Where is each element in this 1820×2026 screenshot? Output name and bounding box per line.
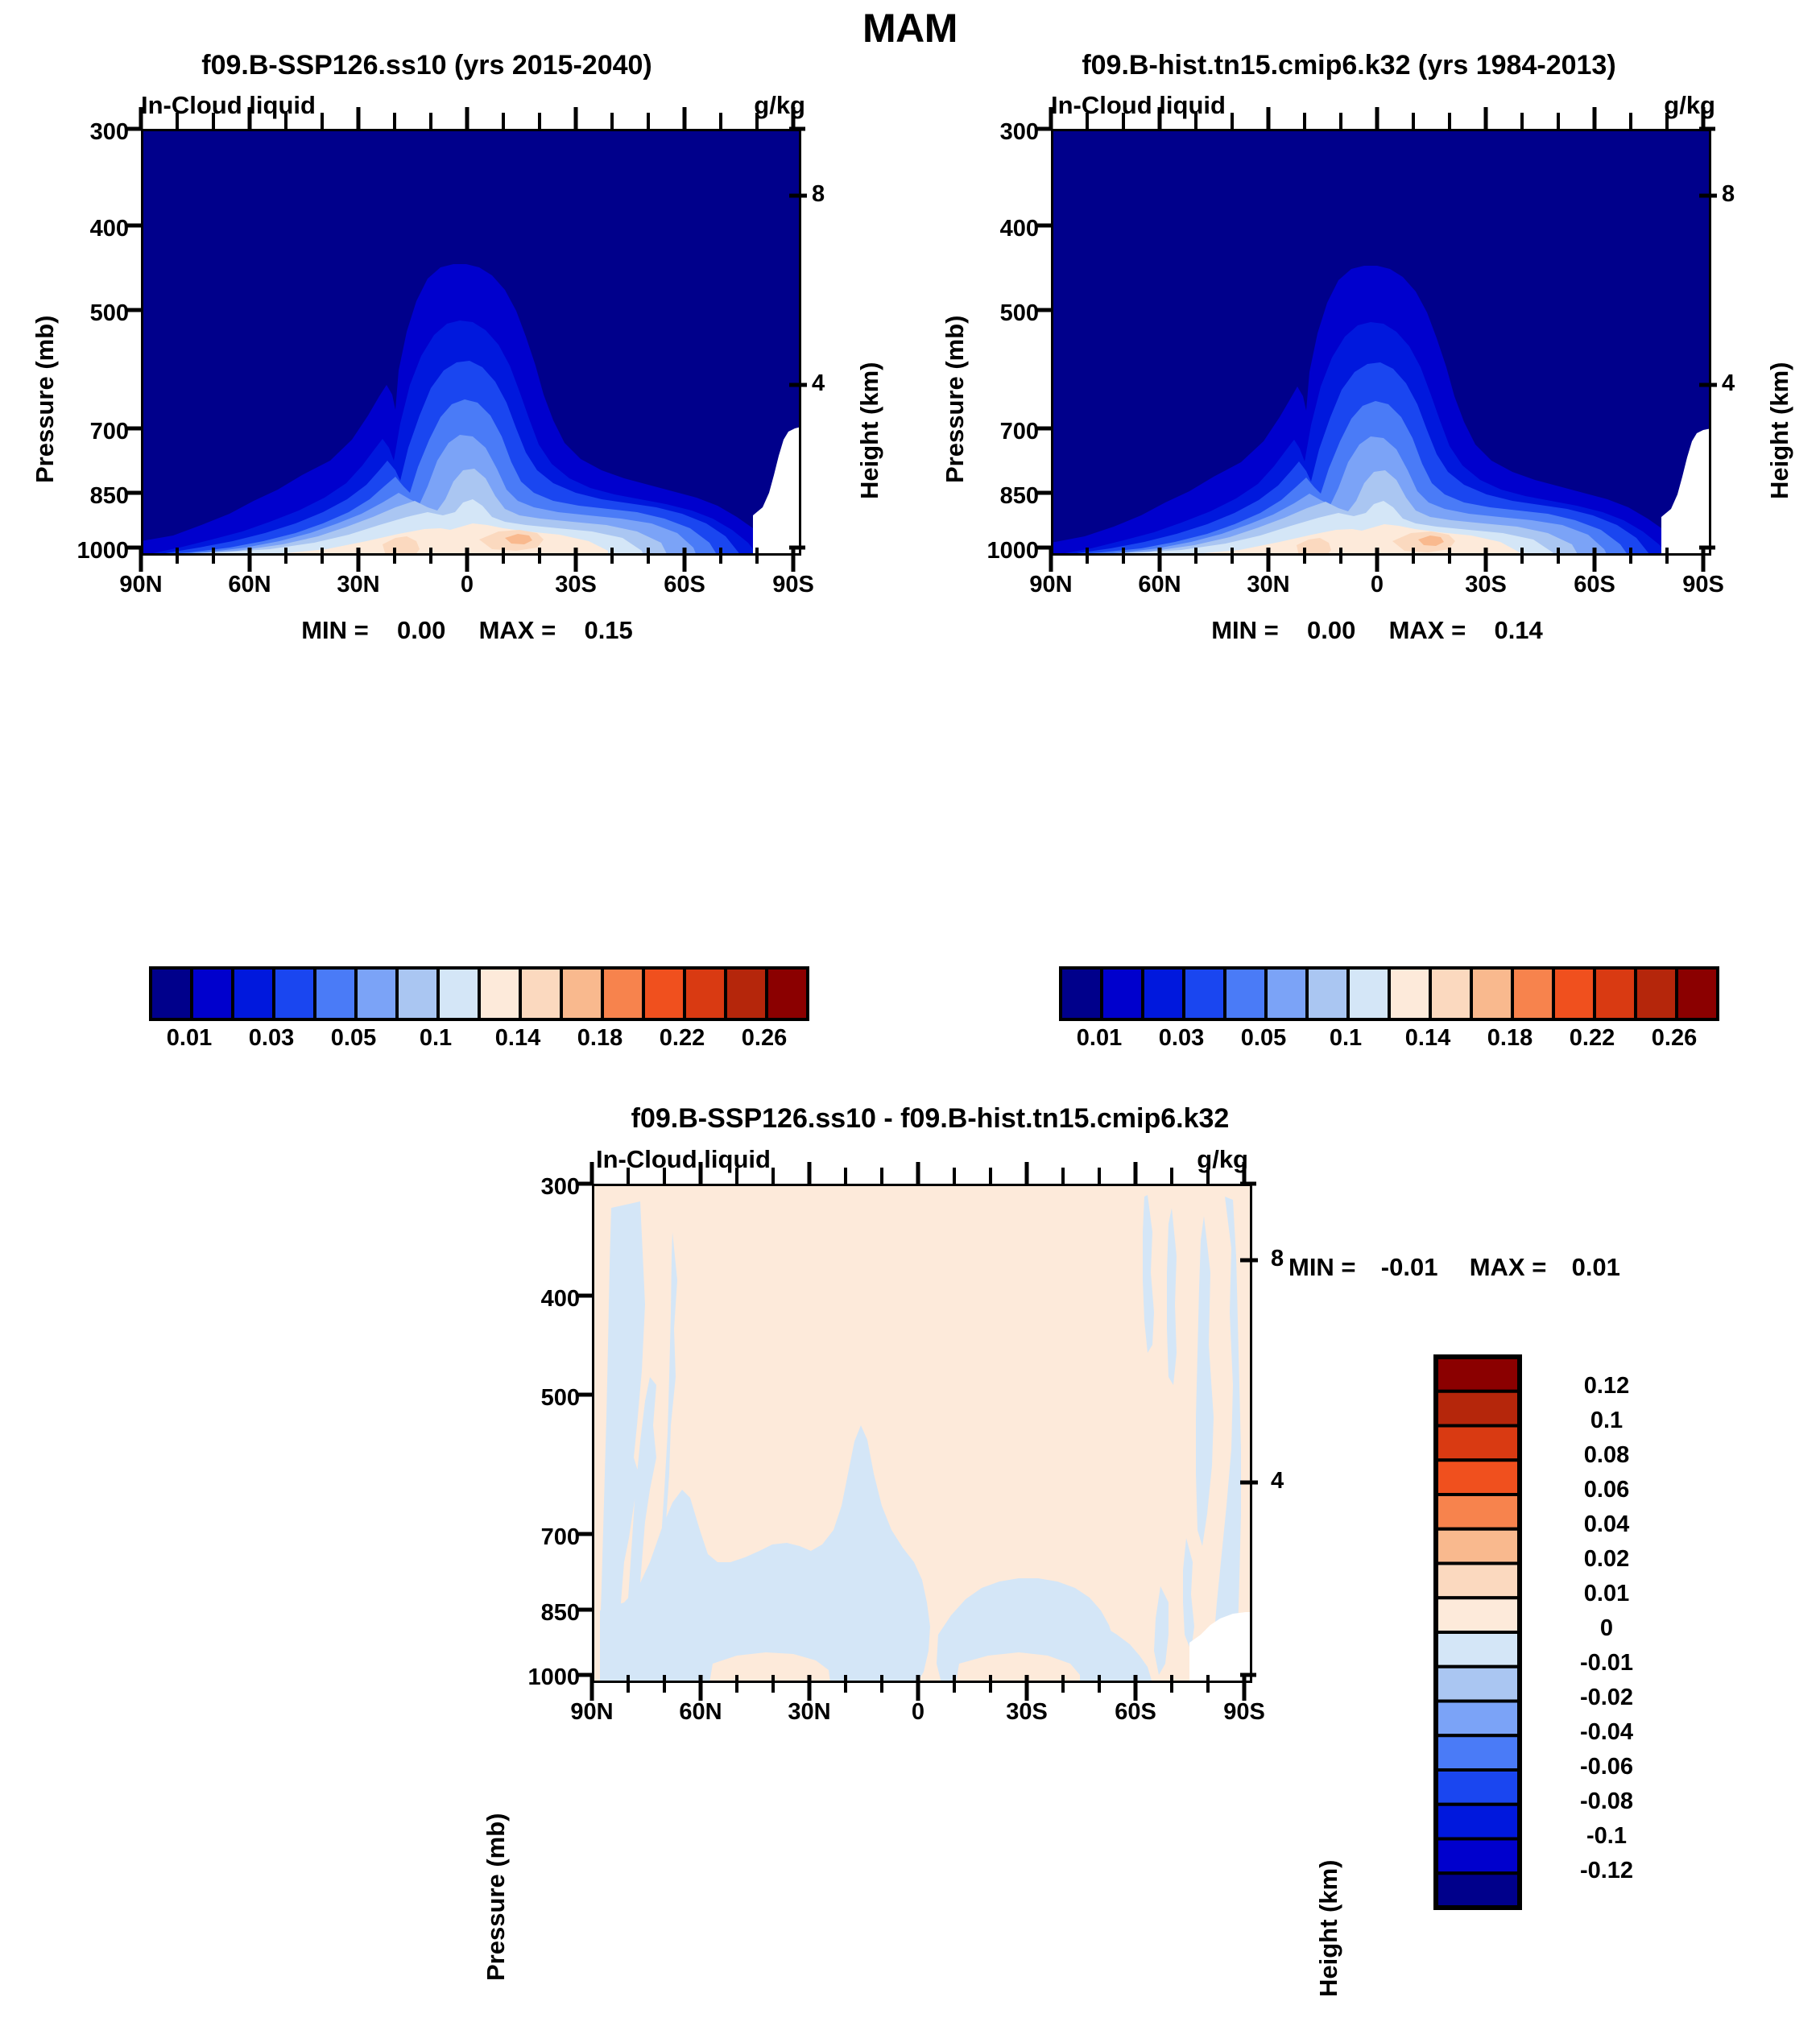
xtick-90S-bottom: 90S [1204,1699,1284,1726]
vcblabel-10: -0.04 [1530,1719,1683,1746]
colorbar-cell [1436,1529,1520,1564]
vcblabel-9: -0.02 [1530,1685,1683,1711]
vcblabel-7: 0 [1530,1615,1683,1642]
vcblabel-4: 0.04 [1530,1511,1683,1538]
colorbar-cell [1512,968,1553,1019]
vcblabel-1: 0.1 [1530,1408,1683,1434]
xtick-60S-bottom: 60S [1095,1699,1176,1726]
colorbar-cell [1061,968,1102,1019]
min-value-top-left: 0.00 [397,616,445,644]
min-value-bottom: -0.01 [1381,1253,1438,1281]
vcblabel-6: 0.01 [1530,1581,1683,1607]
colorbar-swatches-top-left [149,966,809,1021]
max-value-bottom: 0.01 [1572,1253,1620,1281]
xtick-0-top-right: 0 [1337,572,1417,598]
colorbar-cell [1436,1839,1520,1874]
colorbar-cell [192,968,233,1019]
colorbar-cell [274,968,315,1019]
vcblabel-14: -0.12 [1530,1858,1683,1884]
colorbar-cell [1471,968,1512,1019]
colorbar-cell [1436,1564,1520,1598]
colorbar-cell [1553,968,1595,1019]
colorbar-cell [1436,1667,1520,1701]
xtick-30S-bottom: 30S [987,1699,1067,1726]
colorbar-cell [1430,968,1471,1019]
colorbar-top-left[interactable] [149,966,809,1021]
colorbar-cell [233,968,274,1019]
xtick-30S-top-left: 30S [536,572,616,598]
vcblabel-2: 0.08 [1530,1442,1683,1469]
vcblabel-5: 0.02 [1530,1546,1683,1573]
panel-title-bottom: f09.B-SSP126.ss10 - f09.B-hist.tn15.cmip… [507,1103,1353,1135]
colorbar-cell [1389,968,1430,1019]
min-label-bottom: MIN = [1288,1253,1356,1281]
colorbar-cell [1436,1495,1520,1529]
panel-bottom-diff: f09.B-SSP126.ss10 - f09.B-hist.tn15.cmip… [0,1103,1820,1945]
min-value-top-right: 0.00 [1307,616,1355,644]
y2axis-title-top-right: Height (km) [1765,499,1820,528]
colorbar-cell [1436,1460,1520,1495]
xtick-60S-top-left: 60S [644,572,725,598]
ytick-1000-top-left: 1000 [16,538,129,564]
colorbar-cell [602,968,643,1019]
cblabel-7-tl: 0.26 [682,1025,846,1052]
xtick-60N-top-left: 60N [209,572,290,598]
panel-title-top-left: f09.B-SSP126.ss10 (yrs 2015-2040) [0,50,854,81]
colorbar-cell [356,968,397,1019]
figure-title: MAM [0,5,1820,52]
colorbar-labels-top-left: 0.01 0.03 0.05 0.1 0.14 0.18 0.22 0.26 [149,1025,809,1061]
axes-ticks-top-left [113,105,854,588]
colorbar-cell [1184,968,1225,1019]
panel-top-left: f09.B-SSP126.ss10 (yrs 2015-2040) In-Clo… [0,48,910,1127]
axes-ticks-bottom [564,1160,1305,1715]
colorbar-cell [1677,968,1718,1019]
panel-top-right: f09.B-hist.tn15.cmip6.k32 (yrs 1984-2013… [910,48,1820,1127]
min-label-top-right: MIN = [1211,616,1279,644]
xtick-0-bottom: 0 [878,1699,958,1726]
colorbar-cell [397,968,438,1019]
ytick-1000-top-right: 1000 [926,538,1039,564]
colorbar-cell [1436,1426,1520,1461]
vcblabel-13: -0.1 [1530,1823,1683,1850]
xtick-30S-top-right: 30S [1446,572,1526,598]
colorbar-cell [438,968,479,1019]
xtick-90N-top-right: 90N [1011,572,1091,598]
colorbar-top-right[interactable] [1059,966,1719,1021]
colorbar-cell [1436,1632,1520,1667]
colorbar-cell [726,968,767,1019]
vcblabel-12: -0.08 [1530,1788,1683,1815]
colorbar-cell [1636,968,1677,1019]
colorbar-cell [1266,968,1307,1019]
colorbar-cell [685,968,726,1019]
colorbar-cell [1225,968,1266,1019]
xtick-30N-top-left: 30N [318,572,399,598]
colorbar-cell [315,968,356,1019]
colorbar-cell [1102,968,1143,1019]
xtick-90N-top-left: 90N [101,572,181,598]
max-label-top-left: MAX = [479,616,556,644]
colorbar-cell [643,968,685,1019]
cblabel-7-tr: 0.26 [1592,1025,1756,1052]
vcblabel-3: 0.06 [1530,1477,1683,1503]
min-label-top-left: MIN = [301,616,369,644]
colorbar-cell [767,968,808,1019]
minmax-line-top-right: MIN = 0.00 MAX = 0.14 [1095,616,1659,645]
vcblabel-11: -0.06 [1530,1754,1683,1780]
colorbar-cell [479,968,520,1019]
colorbar-cell [151,968,192,1019]
xtick-60S-top-right: 60S [1554,572,1635,598]
xtick-90S-top-right: 90S [1663,572,1743,598]
xtick-30N-top-right: 30N [1228,572,1309,598]
colorbar-cell [1348,968,1389,1019]
vcblabel-0: 0.12 [1530,1373,1683,1400]
max-label-top-right: MAX = [1389,616,1466,644]
vcblabel-8: -0.01 [1530,1650,1683,1677]
ytick-1000-bottom: 1000 [467,1664,580,1691]
xtick-60N-bottom: 60N [660,1699,741,1726]
colorbar-cell [1436,1357,1520,1391]
yaxis-title-bottom: Pressure (mb) [482,1981,649,2010]
colorbar-cell [1436,1805,1520,1839]
colorbar-labels-top-right: 0.01 0.03 0.05 0.1 0.14 0.18 0.22 0.26 [1059,1025,1719,1061]
xtick-90S-top-left: 90S [753,572,833,598]
colorbar-cell [1595,968,1636,1019]
colorbar-cell [561,968,602,1019]
minmax-line-top-left: MIN = 0.00 MAX = 0.15 [185,616,749,645]
colorbar-cell [520,968,561,1019]
xtick-30N-bottom: 30N [769,1699,850,1726]
colorbar-cell [1436,1598,1520,1632]
colorbar-labels-bottom: 0.12 0.1 0.08 0.06 0.04 0.02 0.01 0 -0.0… [1530,1354,1772,1910]
colorbar-bottom[interactable] [1433,1354,1522,1910]
colorbar-cell [1307,968,1348,1019]
xtick-90N-bottom: 90N [552,1699,632,1726]
colorbar-cell [1436,1391,1520,1426]
colorbar-cell [1436,1735,1520,1770]
axes-ticks-top-right [1023,105,1764,588]
max-value-top-right: 0.14 [1494,616,1542,644]
minmax-line-bottom: MIN = -0.01 MAX = 0.01 [1288,1253,1739,1282]
xtick-0-top-left: 0 [427,572,507,598]
colorbar-cell [1143,968,1184,1019]
y2axis-title-bottom: Height (km) [1314,1997,1452,2026]
panel-title-top-right: f09.B-hist.tn15.cmip6.k32 (yrs 1984-2013… [910,50,1788,81]
colorbar-cell [1436,1701,1520,1736]
max-label-bottom: MAX = [1470,1253,1547,1281]
max-value-top-left: 0.15 [584,616,632,644]
colorbar-swatches-bottom [1433,1354,1522,1910]
colorbar-cell [1436,1873,1520,1908]
xtick-60N-top-right: 60N [1119,572,1200,598]
colorbar-cell [1436,1770,1520,1805]
colorbar-swatches-top-right [1059,966,1719,1021]
